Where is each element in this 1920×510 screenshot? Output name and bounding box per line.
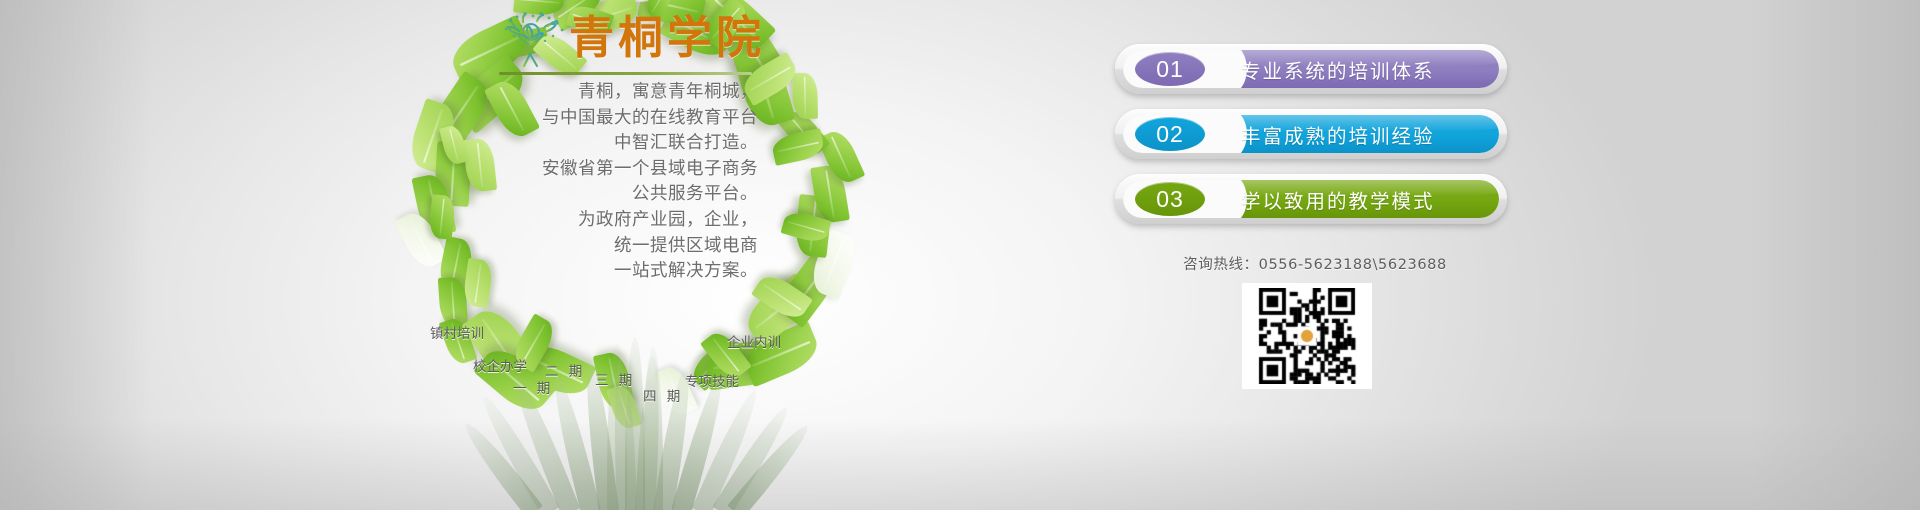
program-label: 专项技能	[685, 370, 739, 390]
title-divider	[499, 72, 752, 75]
tree-logo-icon	[497, 10, 569, 68]
feature-label: 专业系统的培训体系	[1241, 50, 1435, 88]
program-label: 校企办学	[473, 355, 527, 375]
feature-label: 学以致用的教学模式	[1241, 180, 1435, 218]
feature-list: 01专业系统的培训体系02丰富成熟的培训经验03学以致用的教学模式	[1115, 44, 1510, 244]
feature-number-badge: 01	[1135, 52, 1205, 86]
grass-blade	[625, 337, 645, 510]
grass-blade	[643, 347, 663, 510]
description-line: 与中国最大的在线教育平台	[430, 106, 758, 132]
description-line: 一站式解决方案。	[430, 259, 758, 285]
leaf-icon	[792, 73, 818, 119]
description-line: 公共服务平台。	[430, 182, 758, 208]
promo-banner: 青桐学院 青桐，寓意青年桐城，与中国最大的在线教育平台中智汇联合打造。安徽省第一…	[0, 0, 1920, 510]
feature-pill-03[interactable]: 03学以致用的教学模式	[1115, 174, 1507, 224]
program-label: 企业内训	[727, 331, 781, 351]
page-title: 青桐学院	[569, 12, 765, 64]
description-line: 为政府产业园，企业，	[430, 208, 758, 234]
feature-number-badge: 03	[1135, 182, 1205, 216]
description-line: 青桐，寓意青年桐城，	[430, 80, 758, 106]
description-text: 青桐，寓意青年桐城，与中国最大的在线教育平台中智汇联合打造。安徽省第一个县域电子…	[430, 80, 758, 285]
brand-block: 青桐学院	[497, 6, 757, 74]
program-label: 镇村培训	[430, 322, 484, 342]
leaf-icon	[770, 128, 826, 166]
hotline-text: 咨询热线：0556-5623188\5623688	[1150, 253, 1480, 274]
feature-label: 丰富成熟的培训经验	[1241, 115, 1435, 153]
feature-pill-inner: 02丰富成熟的培训经验	[1123, 115, 1499, 153]
feature-pill-inner: 01专业系统的培训体系	[1123, 50, 1499, 88]
qr-code-icon[interactable]	[1242, 283, 1372, 389]
phase-label: 三 期	[595, 369, 635, 389]
feature-pill-inner: 03学以致用的教学模式	[1123, 180, 1499, 218]
description-line: 中智汇联合打造。	[430, 131, 758, 157]
phase-label: 一 期	[513, 377, 553, 397]
description-line: 统一提供区域电商	[430, 234, 758, 260]
phase-label: 二 期	[545, 360, 585, 380]
feature-pill-02[interactable]: 02丰富成熟的培训经验	[1115, 109, 1507, 159]
feature-pill-01[interactable]: 01专业系统的培训体系	[1115, 44, 1507, 94]
description-line: 安徽省第一个县域电子商务	[430, 157, 758, 183]
feature-number-badge: 02	[1135, 117, 1205, 151]
phase-label: 四 期	[643, 385, 683, 405]
